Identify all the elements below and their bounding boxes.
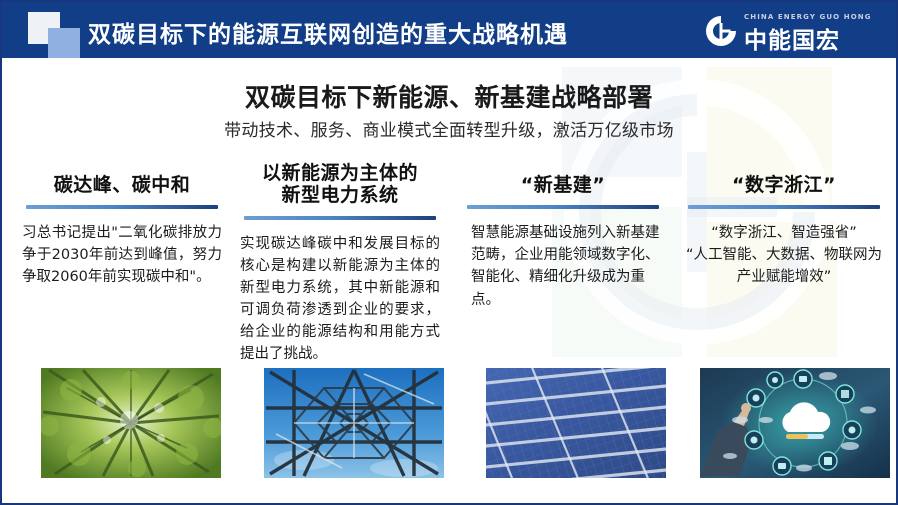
column-body-text: “数字浙江、智造强省” “人工智能、大数据、物联网为产业赋能增效” xyxy=(678,222,890,288)
column-new-infrastructure: “新基建” 智慧能源基础设施列入新基建范畴，企业用能领域数字化、智能化、精细化升… xyxy=(457,162,669,311)
column-heading: 以新能源为主体的 新型电力系统 xyxy=(234,162,446,207)
column-divider xyxy=(244,216,436,220)
header-title: 双碳目标下的能源互联网创造的重大战略机遇 xyxy=(88,15,568,49)
logo-english-text: CHINA ENERGY GUO HONG xyxy=(744,13,872,21)
logo-chinese-text: 中能国宏 xyxy=(744,21,840,55)
slide: 双碳目标下的能源互联网创造的重大战略机遇 CHINA ENERGY GUO HO… xyxy=(0,0,898,505)
page-title: 双碳目标下新能源、新基建战略部署 xyxy=(2,78,896,114)
solar-panel-photo xyxy=(486,368,666,478)
transmission-tower-photo xyxy=(264,368,444,478)
cloud-computing-photo xyxy=(700,368,890,478)
column-divider xyxy=(26,205,218,209)
column-heading: 碳达峰、碳中和 xyxy=(16,162,228,196)
forest-canopy-photo xyxy=(41,368,221,478)
page-subtitle: 带动技术、服务、商业模式全面转型升级，激活万亿级市场 xyxy=(2,116,896,141)
column-body-text: 实现碳达峰碳中和发展目标的核心是构建以新能源为主体的新型电力系统，其中新能源和可… xyxy=(234,233,446,365)
column-divider xyxy=(688,205,880,209)
header-square-blue xyxy=(48,28,80,58)
column-heading: “新基建” xyxy=(457,162,669,196)
company-logo: CHINA ENERGY GUO HONG 中能国宏 xyxy=(704,11,874,51)
column-body-text: 智慧能源基础设施列入新基建范畴，企业用能领域数字化、智能化、精细化升级成为重点。 xyxy=(457,222,669,310)
column-divider xyxy=(467,205,659,209)
column-heading: “数字浙江” xyxy=(678,162,890,196)
column-digital-zhejiang: “数字浙江” “数字浙江、智造强省” “人工智能、大数据、物联网为产业赋能增效” xyxy=(678,162,890,289)
header-bar: 双碳目标下的能源互联网创造的重大战略机遇 CHINA ENERGY GUO HO… xyxy=(2,2,896,58)
column-new-power-system: 以新能源为主体的 新型电力系统 实现碳达峰碳中和发展目标的核心是构建以新能源为主… xyxy=(234,162,446,365)
column-carbon-peak: 碳达峰、碳中和 习总书记提出"二氧化碳排放力争于2030年前达到峰值，努力争取2… xyxy=(16,162,228,289)
column-body-text: 习总书记提出"二氧化碳排放力争于2030年前达到峰值，努力争取2060年前实现碳… xyxy=(16,222,228,288)
logo-mark-icon xyxy=(704,14,738,48)
